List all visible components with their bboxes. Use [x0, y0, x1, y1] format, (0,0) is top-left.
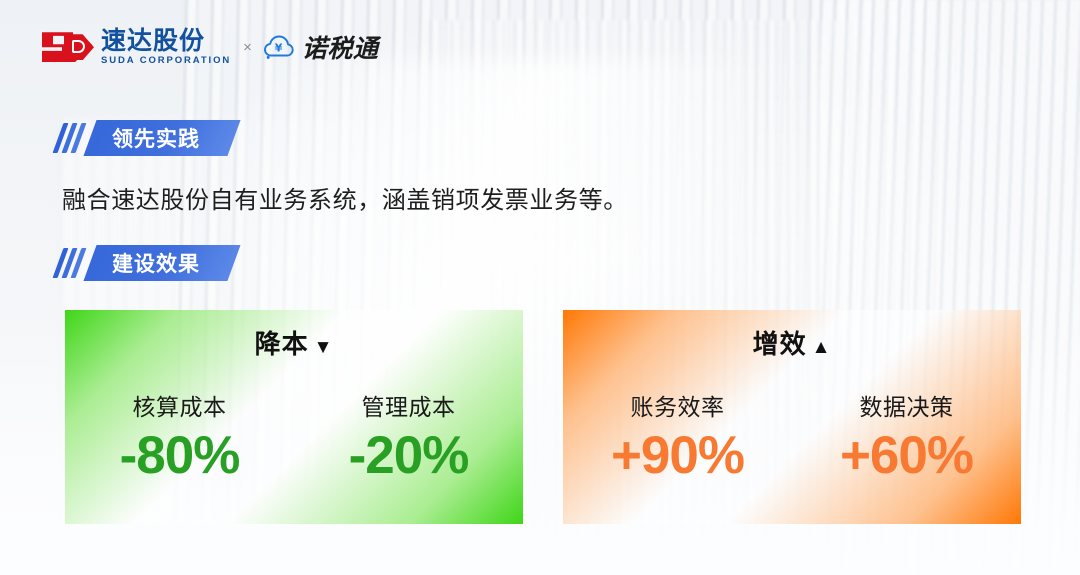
panel-title-text: 降本 — [255, 329, 309, 359]
metric-value: -20% — [294, 428, 523, 484]
cloud-yuan-icon: ¥ — [264, 34, 294, 60]
tag-badge: 领先实践 — [83, 120, 240, 156]
logo-lockup: 速达股份 SUDA CORPORATION × ¥ 诺税通 — [42, 29, 378, 66]
metric-label: 核算成本 — [65, 388, 294, 422]
suda-name-en: SUDA CORPORATION — [101, 56, 231, 66]
arrow-down-icon: ▼ — [314, 337, 334, 358]
panel-title: 降本▼ — [65, 324, 523, 361]
slide: 速达股份 SUDA CORPORATION × ¥ 诺税通 领先实践 融合速达股… — [0, 0, 1080, 575]
metric-item: 账务效率 +90% — [563, 388, 792, 484]
suda-wordmark: 速达股份 SUDA CORPORATION — [101, 29, 231, 66]
tag-label: 建设效果 — [112, 248, 200, 278]
panel-title-text: 增效 — [753, 329, 807, 359]
panel-title: 增效▲ — [563, 324, 1021, 361]
panel-cost-reduction: 降本▼ 核算成本 -80% 管理成本 -20% — [65, 310, 523, 524]
metric-label: 数据决策 — [792, 388, 1021, 422]
metric-list: 账务效率 +90% 数据决策 +60% — [563, 388, 1021, 484]
panel-efficiency-gain: 增效▲ 账务效率 +90% 数据决策 +60% — [563, 310, 1021, 524]
metric-label: 管理成本 — [294, 388, 523, 422]
tag-badge: 建设效果 — [83, 245, 240, 281]
metric-panels: 降本▼ 核算成本 -80% 管理成本 -20% 增效▲ — [0, 310, 1080, 524]
metric-list: 核算成本 -80% 管理成本 -20% — [65, 388, 523, 484]
suda-name-cn: 速达股份 — [101, 29, 231, 54]
metric-value: -80% — [65, 428, 294, 484]
metric-item: 数据决策 +60% — [792, 388, 1021, 484]
lead-paragraph: 融合速达股份自有业务系统，涵盖销项发票业务等。 — [62, 180, 628, 215]
suda-logo-icon — [42, 32, 92, 62]
metric-value: +90% — [563, 428, 792, 484]
metric-item: 核算成本 -80% — [65, 388, 294, 484]
metric-label: 账务效率 — [563, 388, 792, 422]
slash-accent-icon — [58, 248, 85, 278]
metric-value: +60% — [792, 428, 1021, 484]
section-tag-leading-practice: 领先实践 — [58, 120, 234, 156]
arrow-up-icon: ▲ — [812, 337, 832, 358]
svg-text:¥: ¥ — [275, 42, 283, 55]
slash-accent-icon — [58, 123, 85, 153]
section-tag-construction-results: 建设效果 — [58, 245, 234, 281]
metric-item: 管理成本 -20% — [294, 388, 523, 484]
tag-label: 领先实践 — [112, 123, 200, 153]
nst-logo: ¥ 诺税通 — [264, 29, 379, 65]
nst-name: 诺税通 — [302, 29, 379, 65]
logo-separator: × — [243, 39, 252, 56]
